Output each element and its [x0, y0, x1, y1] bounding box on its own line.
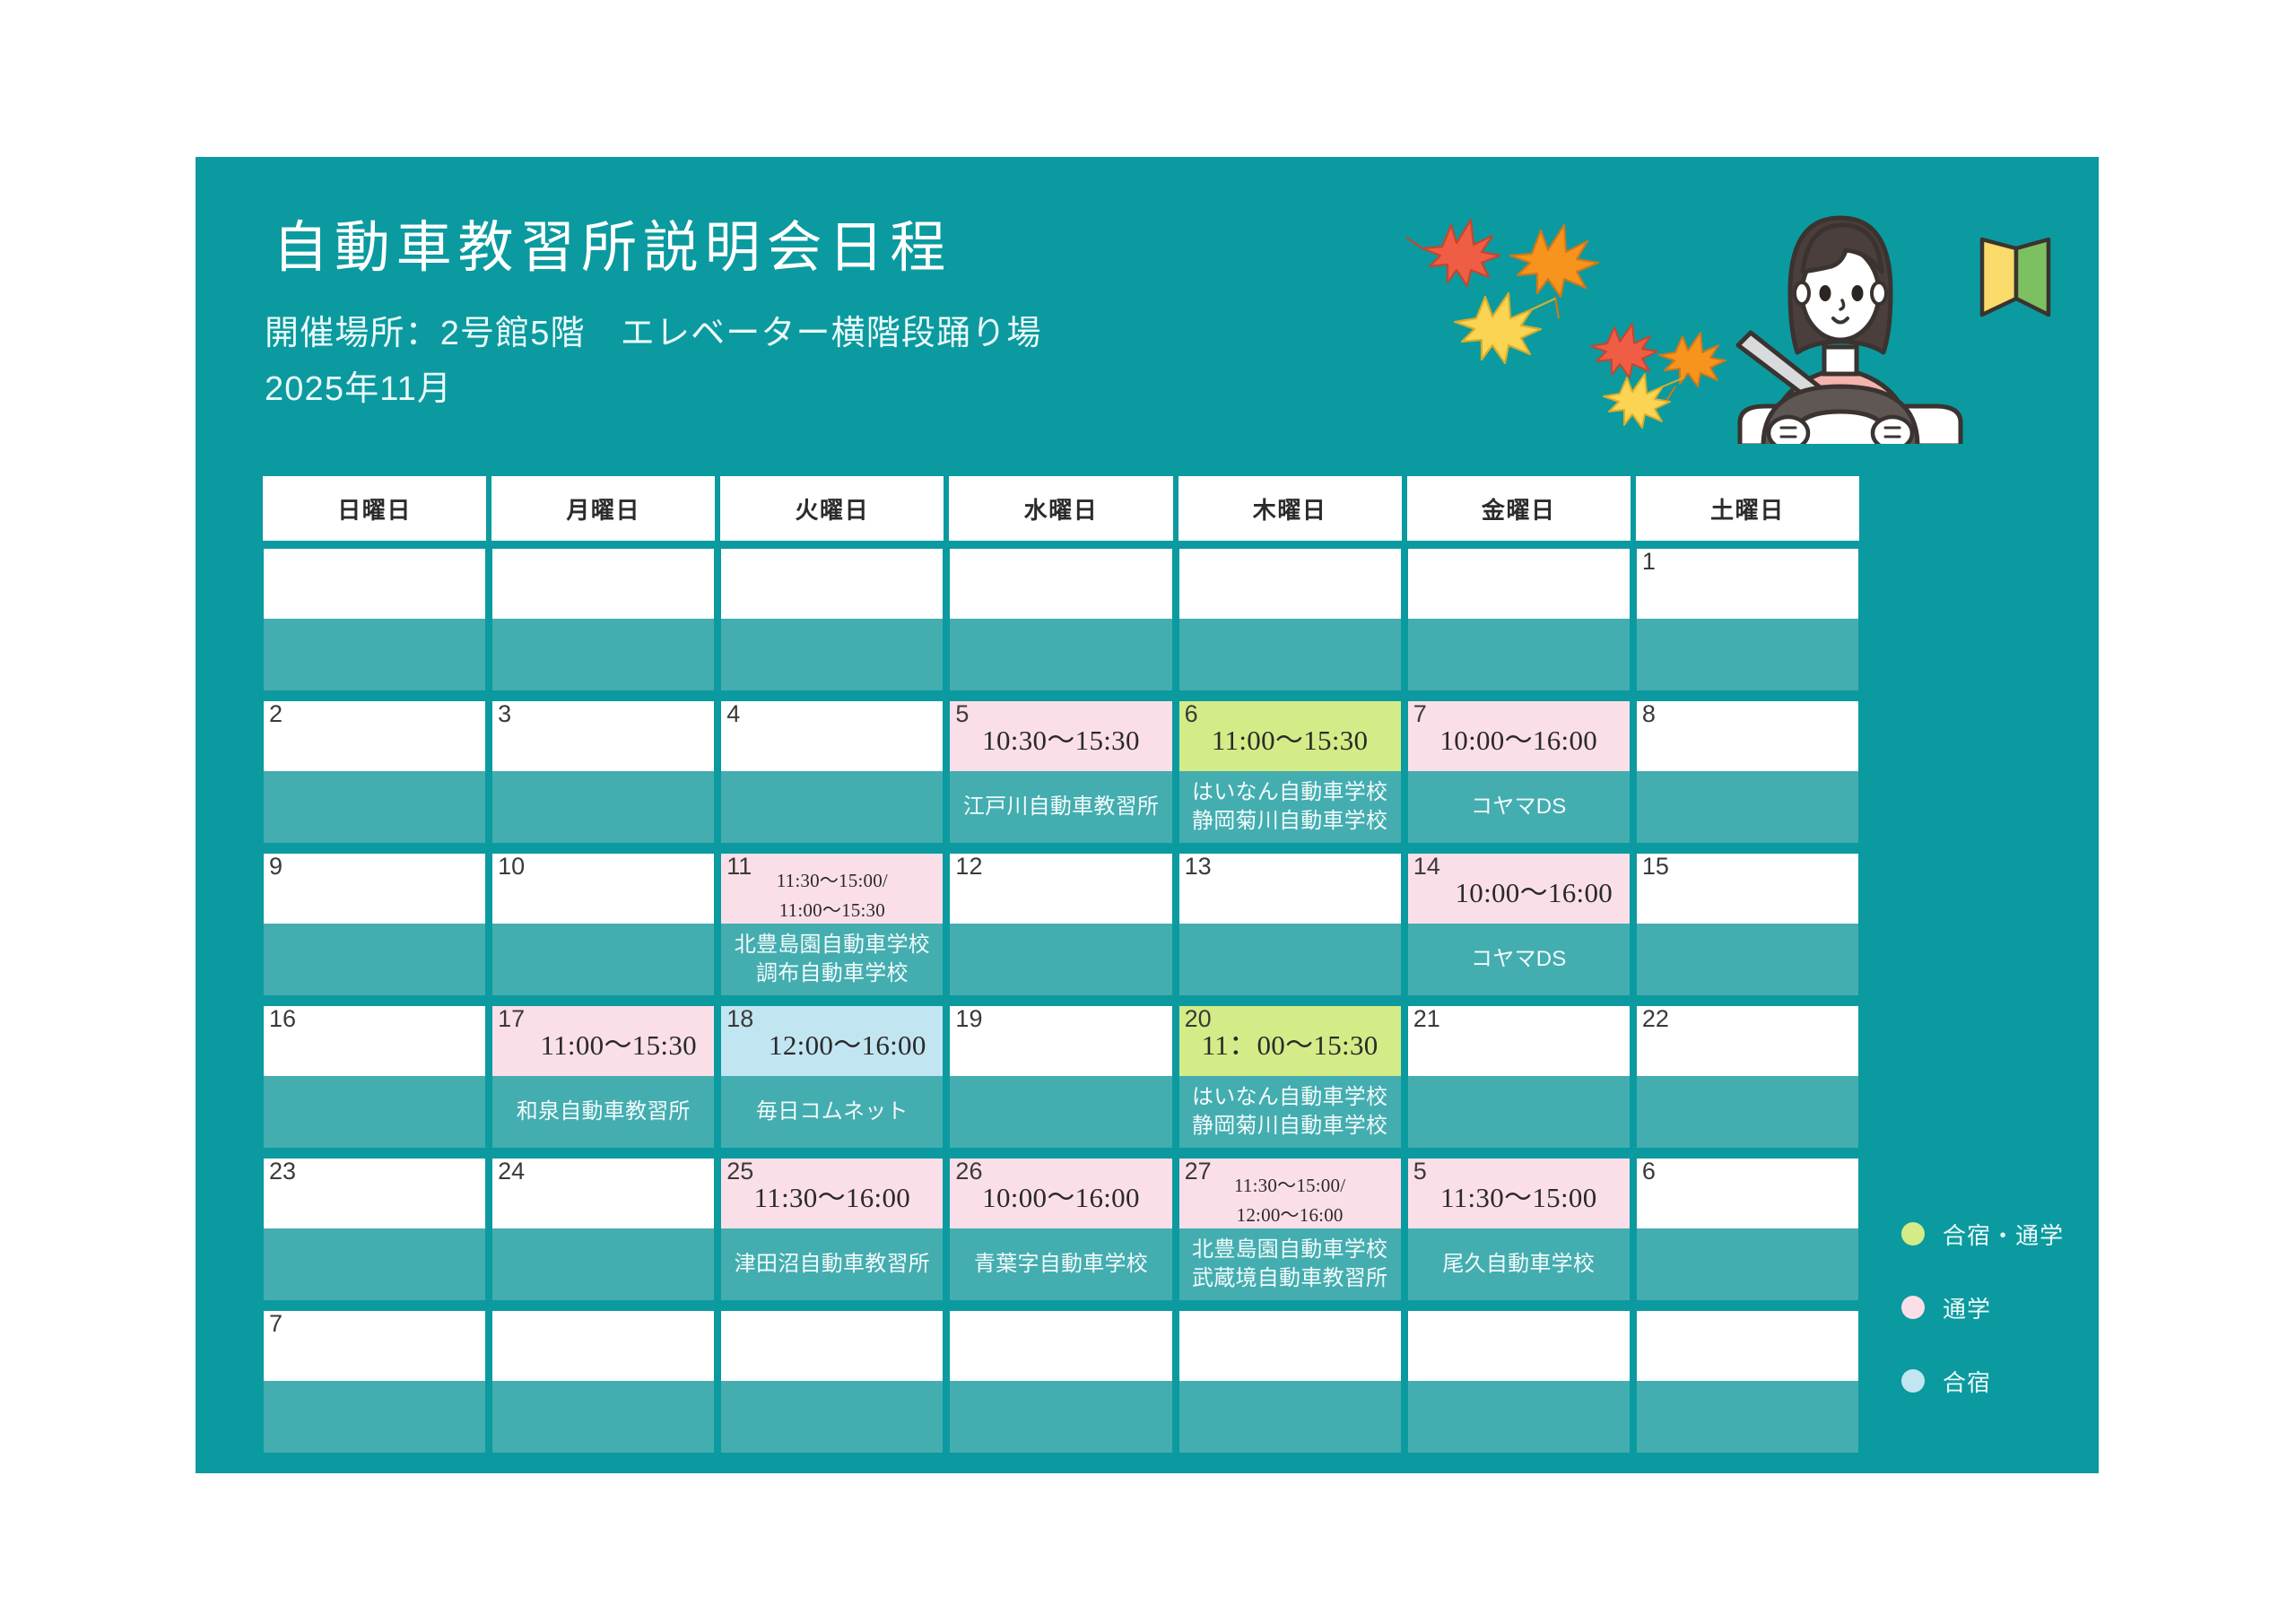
event-time: 11:00〜15:30: [1179, 717, 1401, 758]
day-number: 9: [269, 855, 283, 879]
weekday-header-mon: 月曜日: [489, 473, 717, 543]
event-time: 10:00〜16:00: [1408, 870, 1630, 910]
calendar-week-top-row: 1: [260, 543, 1862, 619]
calendar-week-top-row: 23242511:30〜16:002610:00〜16:002711:30〜15…: [260, 1153, 1862, 1228]
legend-label: 合宿: [1943, 1365, 1991, 1398]
legend-item-lodging-and-commuting: 合宿・通学: [1901, 1197, 2081, 1271]
calendar-school-cell-fri-w1[interactable]: [1405, 619, 1633, 696]
calendar-day-cell-thu-w1[interactable]: [1176, 543, 1405, 619]
calendar-school-cell-tue-w1[interactable]: [717, 619, 946, 696]
calendar-school-cell-mon-w4[interactable]: 和泉自動車教習所: [489, 1076, 717, 1153]
calendar-day-cell-tue-w3[interactable]: 1111:30〜15:00/11:00〜15:30: [717, 848, 946, 924]
calendar-school-cell-thu-w1[interactable]: [1176, 619, 1405, 696]
calendar-day-cell-tue-w2[interactable]: 4: [717, 696, 946, 771]
school-names: 尾久自動車学校: [1442, 1252, 1595, 1276]
maple-leaf-icon: [1455, 293, 1555, 363]
legend-dot-blue: [1901, 1369, 1925, 1393]
calendar-day-cell-sun-w1[interactable]: [260, 543, 489, 619]
calendar-day-cell-sun-w3[interactable]: 9: [260, 848, 489, 924]
maple-leaf-icon: [1659, 333, 1726, 401]
calendar-day-cell-fri-w4[interactable]: 21: [1405, 1001, 1633, 1076]
maple-leaf-icon: [1604, 374, 1684, 428]
legend-dot-pink: [1901, 1296, 1925, 1319]
calendar-day-cell-tue-w4[interactable]: 1812:00〜16:00: [717, 1001, 946, 1076]
calendar-school-cell-mon-w5[interactable]: [489, 1228, 717, 1306]
day-number: 10: [498, 855, 525, 879]
event-time: 11:30〜16:00: [721, 1175, 943, 1215]
calendar-day-cell-thu-w2[interactable]: 611:00〜15:30: [1176, 696, 1405, 771]
calendar-table: 日曜日 月曜日 火曜日 水曜日 木曜日 金曜日 土曜日 1234510:30〜1…: [260, 473, 1862, 1458]
event-time: 11:30〜15:00/11:00〜15:30: [721, 866, 943, 924]
calendar-day-cell-wed-w2[interactable]: 510:30〜15:30: [946, 696, 1175, 771]
calendar-day-cell-fri-w1[interactable]: [1405, 543, 1633, 619]
calendar-school-cell-wed-w2[interactable]: 江戸川自動車教習所: [946, 771, 1175, 848]
calendar-school-cell-tue-w5[interactable]: 津田沼自動車教習所: [717, 1228, 946, 1306]
school-names: 青葉字自動車学校: [974, 1252, 1148, 1276]
event-time: 10:00〜16:00: [950, 1175, 1171, 1215]
calendar-school-cell-sun-w5[interactable]: [260, 1228, 489, 1306]
calendar-school-cell-fri-w3[interactable]: コヤマDS: [1405, 924, 1633, 1001]
school-names: はいなん自動車学校静岡菊川自動車学校: [1192, 780, 1387, 833]
calendar-day-cell-sun-w6[interactable]: 7: [260, 1306, 489, 1381]
calendar-day-cell-tue-w6[interactable]: [717, 1306, 946, 1381]
calendar-school-cell-sat-w4[interactable]: [1633, 1076, 1862, 1153]
calendar-school-cell-thu-w4[interactable]: はいなん自動車学校静岡菊川自動車学校: [1176, 1076, 1405, 1153]
calendar-school-cell-mon-w3[interactable]: [489, 924, 717, 1001]
weekday-header-thu: 木曜日: [1176, 473, 1405, 543]
calendar-day-cell-wed-w6[interactable]: [946, 1306, 1175, 1381]
venue-text: 開催場所：2号館5階 エレベーター横階段踊り場: [265, 305, 1042, 354]
calendar-school-cell-sat-w1[interactable]: [1633, 619, 1862, 696]
day-number: 22: [1642, 1007, 1669, 1031]
school-names: 和泉自動車教習所: [517, 1099, 691, 1124]
page-title: 自動車教習所説明会日程: [273, 202, 952, 282]
calendar-week-top-row: 7: [260, 1306, 1862, 1381]
calendar-body: 1234510:30〜15:30611:00〜15:30710:00〜16:00…: [260, 543, 1862, 1458]
calendar-week-bottom-row: 津田沼自動車教習所青葉字自動車学校北豊島園自動車学校武蔵境自動車教習所尾久自動車…: [260, 1228, 1862, 1306]
day-number: 16: [269, 1007, 296, 1031]
legend-label: 合宿・通学: [1943, 1218, 2064, 1251]
legend-item-commuting: 通学: [1901, 1271, 2081, 1344]
day-number: 23: [269, 1159, 296, 1184]
calendar-day-cell-fri-w6[interactable]: [1405, 1306, 1633, 1381]
school-names: 北豊島園自動車学校調布自動車学校: [735, 933, 930, 985]
calendar-week-top-row: 234510:30〜15:30611:00〜15:30710:00〜16:008: [260, 696, 1862, 771]
calendar-school-cell-thu-w3[interactable]: [1176, 924, 1405, 1001]
school-names: 津田沼自動車教習所: [735, 1252, 930, 1276]
day-number: 12: [955, 855, 982, 879]
calendar-school-cell-mon-w1[interactable]: [489, 619, 717, 696]
calendar-day-cell-thu-w4[interactable]: 2011：00〜15:30: [1176, 1001, 1405, 1076]
school-names: 毎日コムネット: [756, 1099, 909, 1124]
day-number: 1: [1642, 550, 1656, 574]
calendar-school-cell-tue-w6[interactable]: [717, 1381, 946, 1458]
calendar-day-cell-tue-w5[interactable]: 2511:30〜16:00: [717, 1153, 946, 1228]
school-names: コヤマDS: [1471, 794, 1567, 819]
weekday-header-sun: 日曜日: [260, 473, 489, 543]
event-time: 11:00〜15:30: [492, 1022, 714, 1063]
calendar-school-cell-sun-w2[interactable]: [260, 771, 489, 848]
school-names: 江戸川自動車教習所: [963, 794, 1159, 819]
calendar-school-cell-wed-w4[interactable]: [946, 1076, 1175, 1153]
calendar-day-cell-sat-w1[interactable]: 1: [1633, 543, 1862, 619]
calendar-school-cell-sat-w5[interactable]: [1633, 1228, 1862, 1306]
calendar-day-cell-mon-w6[interactable]: [489, 1306, 717, 1381]
calendar-school-cell-mon-w2[interactable]: [489, 771, 717, 848]
calendar-day-cell-sat-w3[interactable]: 15: [1633, 848, 1862, 924]
calendar-day-cell-mon-w3[interactable]: 10: [489, 848, 717, 924]
calendar-day-cell-sat-w5[interactable]: 6: [1633, 1153, 1862, 1228]
calendar-header-row: 日曜日 月曜日 火曜日 水曜日 木曜日 金曜日 土曜日: [260, 473, 1862, 543]
calendar-day-cell-wed-w5[interactable]: 2610:00〜16:00: [946, 1153, 1175, 1228]
day-number: 8: [1642, 702, 1656, 726]
calendar-day-cell-thu-w5[interactable]: 2711:30〜15:00/12:00〜16:00: [1176, 1153, 1405, 1228]
calendar-school-cell-wed-w1[interactable]: [946, 619, 1175, 696]
calendar-school-cell-fri-w4[interactable]: [1405, 1076, 1633, 1153]
calendar-school-cell-mon-w6[interactable]: [489, 1381, 717, 1458]
calendar-school-cell-wed-w6[interactable]: [946, 1381, 1175, 1458]
day-number: 4: [726, 702, 740, 726]
calendar-day-cell-sun-w4[interactable]: 16: [260, 1001, 489, 1076]
calendar-day-cell-sat-w2[interactable]: 8: [1633, 696, 1862, 771]
event-time: 10:30〜15:30: [950, 717, 1171, 758]
calendar-school-cell-tue-w4[interactable]: 毎日コムネット: [717, 1076, 946, 1153]
calendar-day-cell-sun-w5[interactable]: 23: [260, 1153, 489, 1228]
calendar-day-cell-tue-w1[interactable]: [717, 543, 946, 619]
calendar-day-cell-mon-w2[interactable]: 3: [489, 696, 717, 771]
calendar-day-cell-sat-w4[interactable]: 22: [1633, 1001, 1862, 1076]
event-time: 11：00〜15:30: [1179, 1022, 1401, 1063]
calendar-day-cell-fri-w5[interactable]: 511:30〜15:00: [1405, 1153, 1633, 1228]
maple-leaf-icon: [1406, 220, 1500, 286]
weekday-header-wed: 水曜日: [946, 473, 1175, 543]
calendar-school-cell-thu-w6[interactable]: [1176, 1381, 1405, 1458]
day-number: 7: [269, 1312, 283, 1336]
calendar-school-cell-thu-w5[interactable]: 北豊島園自動車学校武蔵境自動車教習所: [1176, 1228, 1405, 1306]
calendar-week-bottom-row: [260, 619, 1862, 696]
school-names: コヤマDS: [1471, 947, 1567, 971]
day-number: 19: [955, 1007, 982, 1031]
driver-illustration: [1388, 193, 2070, 444]
weekday-header-tue: 火曜日: [717, 473, 946, 543]
calendar-school-cell-fri-w2[interactable]: コヤマDS: [1405, 771, 1633, 848]
event-time: 12:00〜16:00: [721, 1022, 943, 1063]
calendar-day-cell-mon-w4[interactable]: 1711:00〜15:30: [489, 1001, 717, 1076]
calendar-day-cell-thu-w3[interactable]: 13: [1176, 848, 1405, 924]
calendar-day-cell-wed-w4[interactable]: 19: [946, 1001, 1175, 1076]
calendar-week-bottom-row: [260, 1381, 1862, 1458]
calendar-school-cell-sun-w1[interactable]: [260, 619, 489, 696]
maple-leaf-icon: [1510, 225, 1598, 318]
day-number: 15: [1642, 855, 1669, 879]
calendar-school-cell-sat-w6[interactable]: [1633, 1381, 1862, 1458]
legend: 合宿・通学 通学 合宿: [1901, 1197, 2081, 1418]
calendar-day-cell-wed-w1[interactable]: [946, 543, 1175, 619]
calendar-school-cell-tue-w3[interactable]: 北豊島園自動車学校調布自動車学校: [717, 924, 946, 1001]
calendar-day-cell-thu-w6[interactable]: [1176, 1306, 1405, 1381]
legend-label: 通学: [1943, 1291, 1991, 1324]
poster-panel: 自動車教習所説明会日程 開催場所：2号館5階 エレベーター横階段踊り場 2025…: [196, 157, 2099, 1473]
school-names: はいなん自動車学校静岡菊川自動車学校: [1192, 1085, 1387, 1138]
event-time: 10:00〜16:00: [1408, 717, 1630, 758]
driver-figure-icon: [1738, 218, 1961, 444]
maple-leaf-icon: [1591, 324, 1657, 378]
calendar-day-cell-wed-w3[interactable]: 12: [946, 848, 1175, 924]
calendar-day-cell-fri-w2[interactable]: 710:00〜16:00: [1405, 696, 1633, 771]
day-number: 6: [1642, 1159, 1656, 1184]
calendar-school-cell-sun-w4[interactable]: [260, 1076, 489, 1153]
weekday-header-sat: 土曜日: [1633, 473, 1862, 543]
day-number: 3: [498, 702, 511, 726]
event-time: 11:30〜15:00: [1408, 1175, 1630, 1215]
calendar-school-cell-sun-w3[interactable]: [260, 924, 489, 1001]
calendar-day-cell-fri-w3[interactable]: 1410:00〜16:00: [1405, 848, 1633, 924]
calendar-school-cell-fri-w5[interactable]: 尾久自動車学校: [1405, 1228, 1633, 1306]
calendar-school-cell-wed-w5[interactable]: 青葉字自動車学校: [946, 1228, 1175, 1306]
calendar-school-cell-tue-w2[interactable]: [717, 771, 946, 848]
calendar-week-top-row: 9101111:30〜15:00/11:00〜15:3012131410:00〜…: [260, 848, 1862, 924]
calendar-week-bottom-row: 北豊島園自動車学校調布自動車学校コヤマDS: [260, 924, 1862, 1001]
calendar-day-cell-sat-w6[interactable]: [1633, 1306, 1862, 1381]
day-number: 2: [269, 702, 283, 726]
calendar-school-cell-wed-w3[interactable]: [946, 924, 1175, 1001]
school-names: 北豊島園自動車学校武蔵境自動車教習所: [1192, 1237, 1387, 1290]
event-time: 11:30〜15:00/12:00〜16:00: [1179, 1171, 1401, 1229]
calendar-school-cell-fri-w6[interactable]: [1405, 1381, 1633, 1458]
calendar-week-top-row: 161711:00〜15:301812:00〜16:00192011：00〜15…: [260, 1001, 1862, 1076]
calendar-week-bottom-row: 江戸川自動車教習所はいなん自動車学校静岡菊川自動車学校コヤマDS: [260, 771, 1862, 848]
calendar-school-cell-sat-w2[interactable]: [1633, 771, 1862, 848]
calendar-school-cell-sat-w3[interactable]: [1633, 924, 1862, 1001]
legend-item-lodging: 合宿: [1901, 1344, 2081, 1418]
legend-dot-green: [1901, 1222, 1925, 1245]
beginner-driver-badge-icon: [1982, 239, 2048, 315]
day-number: 24: [498, 1159, 525, 1184]
day-number: 21: [1413, 1007, 1440, 1031]
calendar-week-bottom-row: 和泉自動車教習所毎日コムネットはいなん自動車学校静岡菊川自動車学校: [260, 1076, 1862, 1153]
period-text: 2025年11月: [265, 360, 452, 410]
day-number: 13: [1185, 855, 1212, 879]
calendar-day-cell-mon-w1[interactable]: [489, 543, 717, 619]
calendar-school-cell-thu-w2[interactable]: はいなん自動車学校静岡菊川自動車学校: [1176, 771, 1405, 848]
calendar-day-cell-mon-w5[interactable]: 24: [489, 1153, 717, 1228]
calendar-school-cell-sun-w6[interactable]: [260, 1381, 489, 1458]
weekday-header-fri: 金曜日: [1405, 473, 1633, 543]
calendar-day-cell-sun-w2[interactable]: 2: [260, 696, 489, 771]
